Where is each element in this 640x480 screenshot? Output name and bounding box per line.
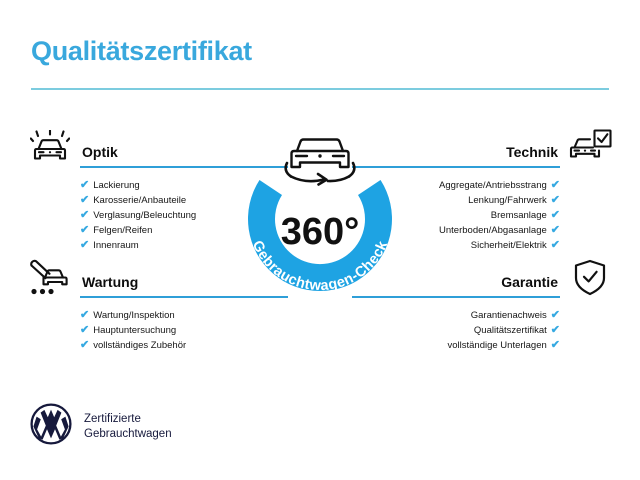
list-item-label: Unterboden/Abgasanlage — [439, 223, 547, 238]
list-item: ✔Lackierung — [80, 178, 196, 193]
check-icon: ✔ — [80, 225, 89, 236]
list-item: ✔Karosserie/Anbauteile — [80, 193, 196, 208]
check-icon: ✔ — [80, 180, 89, 191]
title-divider — [31, 88, 609, 90]
list-item: Unterboden/Abgasanlage✔ — [439, 223, 560, 238]
check-list-wartung: ✔Wartung/Inspektion ✔Hauptuntersuchung ✔… — [80, 308, 186, 353]
list-item-label: Innenraum — [93, 238, 138, 253]
footer-branding: Zertifizierte Gebrauchtwagen — [30, 403, 172, 450]
list-item: Aggregate/Antriebsstrang✔ — [439, 178, 560, 193]
check-icon: ✔ — [551, 210, 560, 221]
check-icon: ✔ — [80, 195, 89, 206]
car-rotation-360-icon — [286, 140, 355, 185]
car-checkbox-icon — [564, 126, 616, 170]
car-front-headlights-icon — [24, 126, 76, 170]
check-icon: ✔ — [80, 240, 89, 251]
list-item-label: Garantienachweis — [471, 308, 547, 323]
list-item: Bremsanlage✔ — [439, 208, 560, 223]
list-item: ✔Wartung/Inspektion — [80, 308, 186, 323]
badge-center-label: 360° — [281, 211, 360, 253]
check-icon: ✔ — [551, 310, 560, 321]
list-item-label: Sicherheit/Elektrik — [471, 238, 547, 253]
section-title: Garantie — [501, 274, 558, 290]
list-item-label: Aggregate/Antriebsstrang — [439, 178, 547, 193]
list-item-label: vollständiges Zubehör — [93, 338, 186, 353]
check-icon: ✔ — [551, 225, 560, 236]
footer-label: Zertifizierte Gebrauchtwagen — [84, 412, 172, 442]
list-item-label: Karosserie/Anbauteile — [93, 193, 186, 208]
section-title: Optik — [82, 144, 118, 160]
list-item: ✔Innenraum — [80, 238, 196, 253]
list-item: ✔Hauptuntersuchung — [80, 323, 186, 338]
check-icon: ✔ — [80, 210, 89, 221]
list-item-label: Felgen/Reifen — [93, 223, 152, 238]
check-icon: ✔ — [80, 340, 89, 351]
list-item: Garantienachweis✔ — [447, 308, 560, 323]
list-item-label: Lackierung — [93, 178, 139, 193]
list-item-label: Hauptuntersuchung — [93, 323, 176, 338]
list-item-label: vollständige Unterlagen — [447, 338, 546, 353]
list-item: Lenkung/Fahrwerk✔ — [439, 193, 560, 208]
list-item-label: Verglasung/Beleuchtung — [93, 208, 196, 223]
list-item-label: Wartung/Inspektion — [93, 308, 175, 323]
list-item: vollständige Unterlagen✔ — [447, 338, 560, 353]
check-list-technik: Aggregate/Antriebsstrang✔ Lenkung/Fahrwe… — [439, 178, 560, 253]
wrench-car-service-icon — [24, 256, 76, 300]
check-icon: ✔ — [551, 195, 560, 206]
volkswagen-logo — [30, 403, 72, 450]
list-item: ✔Felgen/Reifen — [80, 223, 196, 238]
list-item-label: Qualitätszertifikat — [474, 323, 547, 338]
check-icon: ✔ — [80, 325, 89, 336]
check-icon: ✔ — [551, 325, 560, 336]
list-item: ✔Verglasung/Beleuchtung — [80, 208, 196, 223]
section-title: Technik — [506, 144, 558, 160]
check-icon: ✔ — [551, 180, 560, 191]
certificate-page: Qualitätszertifikat Optik ✔Lackierung ✔K… — [0, 0, 640, 480]
check-icon: ✔ — [551, 240, 560, 251]
section-title: Wartung — [82, 274, 138, 290]
badge-360-gebrauchtwagen-check: 360° Gebrauchtwagen-Check — [228, 118, 412, 308]
list-item-label: Bremsanlage — [491, 208, 547, 223]
page-title: Qualitätszertifikat — [31, 36, 252, 67]
list-item-label: Lenkung/Fahrwerk — [468, 193, 547, 208]
check-list-garantie: Garantienachweis✔ Qualitätszertifikat✔ v… — [447, 308, 560, 353]
check-list-optik: ✔Lackierung ✔Karosserie/Anbauteile ✔Verg… — [80, 178, 196, 253]
check-icon: ✔ — [80, 310, 89, 321]
list-item: ✔vollständiges Zubehör — [80, 338, 186, 353]
list-item: Qualitätszertifikat✔ — [447, 323, 560, 338]
list-item: Sicherheit/Elektrik✔ — [439, 238, 560, 253]
check-icon: ✔ — [551, 340, 560, 351]
shield-check-icon — [564, 256, 616, 300]
